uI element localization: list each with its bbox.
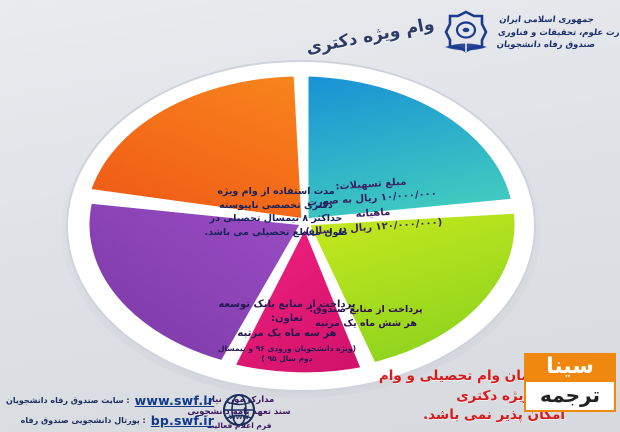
link-row-bp-swf[interactable]: bp.swf.ir : پورتال دانشجویی صندوق رفاه xyxy=(6,413,214,428)
pie-slice-orange xyxy=(87,73,305,222)
watermark: سینا ترجمه xyxy=(524,353,616,412)
pie-chart: مبلغ تسهیلات: ۱۰/۰۰۰/۰۰۰ ریال به صورت ما… xyxy=(55,52,547,400)
link-url-swf[interactable]: www.swf.ir xyxy=(135,393,215,408)
watermark-top-label: سینا xyxy=(524,353,616,382)
link-url-bp-swf[interactable]: bp.swf.ir xyxy=(151,413,214,428)
pie-slice-blue xyxy=(305,73,515,222)
ministry-line-3: صندوق رفاه دانشجویان xyxy=(496,40,595,51)
svg-text:www: www xyxy=(228,411,249,421)
link-row-swf[interactable]: www.swf.ir : سایت صندوق رفاه دانشجویان xyxy=(6,393,214,408)
poster-root: جمهوری اسلامی ایران وزارت علوم، تحقیقات … xyxy=(0,0,620,432)
watermark-bottom-label: ترجمه xyxy=(524,382,616,412)
link-label-swf: : سایت صندوق رفاه دانشجویان xyxy=(6,396,130,405)
footer-links: www www.swf.ir : سایت صندوق رفاه دانشجوی… xyxy=(6,392,257,428)
ministry-line-1: جمهوری اسلامی ایران xyxy=(499,15,595,26)
link-list: www.swf.ir : سایت صندوق رفاه دانشجویان b… xyxy=(6,393,214,428)
ministry-line-2: وزارت علوم، تحقیقات و فناوری xyxy=(497,28,620,39)
link-label-bp-swf: : پورتال دانشجویی صندوق رفاه xyxy=(21,416,146,425)
www-globe-icon: www xyxy=(221,392,257,428)
ministry-name: جمهوری اسلامی ایران وزارت علوم، تحقیقات … xyxy=(496,15,620,51)
